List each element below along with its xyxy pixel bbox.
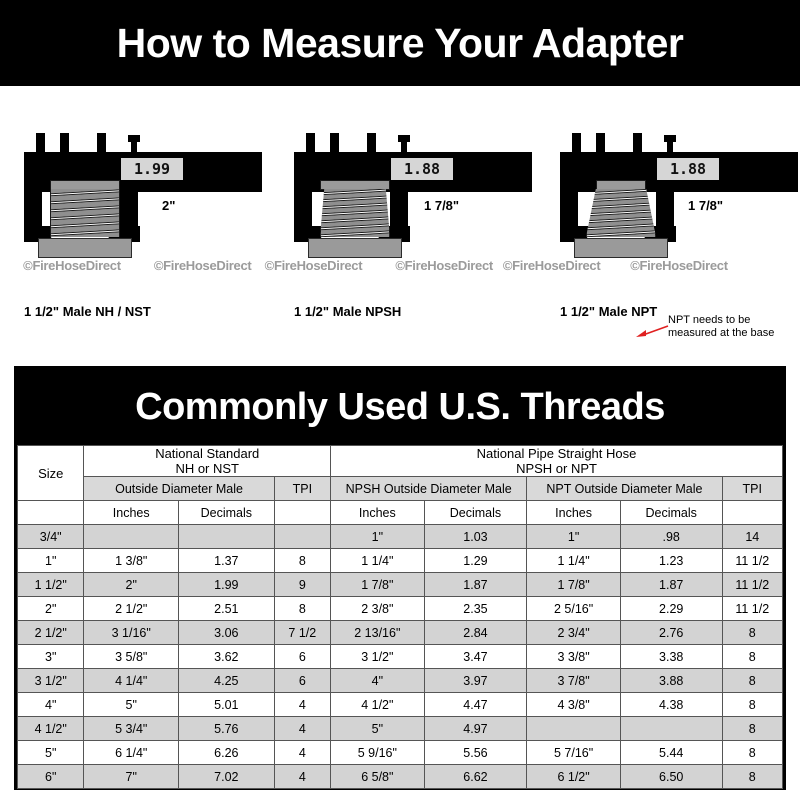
size-cell: 1" [18,549,84,573]
diagram-strip: 1.99 2" 1 1/2" Male NH / NST [0,86,800,358]
nh-decimals-cell: 1.99 [179,573,275,597]
figure-caption: 1 1/2" Male NH / NST [24,304,151,319]
thread-nipple [316,180,394,240]
table-header-row-units: Inches Decimals Inches Decimals Inches D… [18,501,783,525]
nh-inches-cell: 4 1/4" [84,669,179,693]
npt-inches-cell: 3 7/8" [527,669,621,693]
table-row: 1 1/2"2"1.9991 7/8"1.871 7/8"1.8711 1/2 [18,573,783,597]
npt-measurement-note: NPT needs to be measured at the base [668,314,774,340]
size-cell: 3 1/2" [18,669,84,693]
caliper-upper-blade-left [36,133,45,155]
npsh-decimals-cell: 4.97 [424,717,527,741]
table-row: 2 1/2"3 1/16"3.067 1/22 13/16"2.842 3/4"… [18,621,783,645]
thread-body [586,189,656,237]
header-group-nh-line1: National Standard [84,446,330,461]
page-title: How to Measure Your Adapter [117,20,684,67]
header-npsh-od: NPSH Outside Diameter Male [331,477,527,501]
size-cell: 4 1/2" [18,717,84,741]
caliper-reading-value: 1.88 [404,160,440,178]
caliper-figure-nh-nst: 1.99 2" 1 1/2" Male NH / NST [2,86,268,358]
caliper-upper-blade-mid [596,133,605,155]
caliper-lcd-display: 1.88 [656,157,720,181]
caliper-illustration: 1.88 [538,130,800,290]
npsh-inches-cell: 3 1/2" [331,645,425,669]
fitting-base-block [308,238,402,258]
np-tpi-cell: 8 [722,717,782,741]
npsh-decimals-cell: 1.87 [424,573,527,597]
header-npt-od: NPT Outside Diameter Male [527,477,722,501]
npt-decimals-cell: 6.50 [620,765,722,789]
nh-decimals-cell: 7.02 [179,765,275,789]
caliper-depth-stub [734,182,748,191]
caliper-reading-value: 1.99 [134,160,170,178]
np-tpi-cell: 8 [722,621,782,645]
nh-tpi-cell [274,525,330,549]
caliper-depth-stub [198,182,212,191]
table-title: Commonly Used U.S. Threads [135,386,665,429]
npt-inches-cell: 6 1/2" [527,765,621,789]
caliper-upper-blade-right [367,133,376,155]
caliper-thumbwheel-stem [401,140,407,154]
nh-decimals-cell: 1.37 [179,549,275,573]
header-group-np-line1: National Pipe Straight Hose [331,446,782,461]
header-np-tpi-blank [722,501,782,525]
npsh-decimals-cell: 4.47 [424,693,527,717]
npt-decimals-cell: 2.76 [620,621,722,645]
nh-tpi-cell: 6 [274,669,330,693]
nh-decimals-cell: 3.62 [179,645,275,669]
header-unit-blank [18,501,84,525]
npsh-decimals-cell: 3.97 [424,669,527,693]
nh-inches-cell: 3 1/16" [84,621,179,645]
nh-inches-cell: 1 3/8" [84,549,179,573]
thread-body [50,189,120,237]
np-tpi-cell: 11 1/2 [722,549,782,573]
np-tpi-cell: 8 [722,645,782,669]
npt-inches-cell: 2 5/16" [527,597,621,621]
fitting-base-block [38,238,132,258]
npt-inches-cell: 1" [527,525,621,549]
nh-tpi-cell: 8 [274,597,330,621]
page-title-banner: How to Measure Your Adapter [0,0,800,86]
nh-decimals-cell: 3.06 [179,621,275,645]
size-cell: 5" [18,741,84,765]
npt-decimals-cell: .98 [620,525,722,549]
size-cell: 6" [18,765,84,789]
nh-decimals-cell: 5.76 [179,717,275,741]
table-row: 2"2 1/2"2.5182 3/8"2.352 5/16"2.2911 1/2 [18,597,783,621]
caliper-upper-blade-mid [60,133,69,155]
header-group-nh: National Standard NH or NST [84,446,331,477]
npsh-inches-cell: 1 1/4" [331,549,425,573]
threads-table: Size National Standard NH or NST Nationa… [17,445,783,789]
npt-note-line-1: NPT needs to be [668,314,774,327]
npt-inches-cell: 1 7/8" [527,573,621,597]
table-header-row-groups: Size National Standard NH or NST Nationa… [18,446,783,477]
npsh-inches-cell: 2 3/8" [331,597,425,621]
caliper-thumbwheel-stem [667,140,673,154]
inch-callout-label: 1 7/8" [424,198,459,213]
header-nh-tpi: TPI [274,477,330,501]
fitting-base-block [574,238,668,258]
npsh-inches-cell: 6 5/8" [331,765,425,789]
table-row: 3/4"1"1.031".9814 [18,525,783,549]
npsh-decimals-cell: 5.56 [424,741,527,765]
inch-callout-label: 1 7/8" [688,198,723,213]
np-tpi-cell: 8 [722,669,782,693]
header-group-np: National Pipe Straight Hose NPSH or NPT [331,446,783,477]
table-title-banner: Commonly Used U.S. Threads [17,369,783,445]
threads-table-section: Commonly Used U.S. Threads Size National… [14,366,786,790]
caliper-upper-blade-mid [330,133,339,155]
caliper-lcd-display: 1.88 [390,157,454,181]
np-tpi-cell: 11 1/2 [722,573,782,597]
npsh-inches-cell: 4" [331,669,425,693]
npt-decimals-cell: 3.88 [620,669,722,693]
table-row: 1"1 3/8"1.3781 1/4"1.291 1/4"1.2311 1/2 [18,549,783,573]
table-header-row-columns: Outside Diameter Male TPI NPSH Outside D… [18,477,783,501]
caliper-thumbwheel-stem [131,140,137,154]
caliper-figure-npsh: 1.88 1 7/8" 1 1/2" Male NPSH [272,86,538,358]
np-tpi-cell: 14 [722,525,782,549]
table-row: 5"6 1/4"6.2645 9/16"5.565 7/16"5.448 [18,741,783,765]
np-tpi-cell: 8 [722,741,782,765]
header-size: Size [18,446,84,501]
table-body: 3/4"1"1.031".98141"1 3/8"1.3781 1/4"1.29… [18,525,783,789]
table-row: 4 1/2"5 3/4"5.7645"4.978 [18,717,783,741]
header-nh-od: Outside Diameter Male [84,477,274,501]
size-cell: 3" [18,645,84,669]
npsh-inches-cell: 2 13/16" [331,621,425,645]
inch-callout-label: 2" [162,198,175,213]
thread-collar [320,180,390,190]
nh-tpi-cell: 4 [274,741,330,765]
npt-red-arrow-icon [634,324,670,338]
size-cell: 2 1/2" [18,621,84,645]
table-row: 3 1/2"4 1/4"4.2564"3.973 7/8"3.888 [18,669,783,693]
table-row: 4"5"5.0144 1/2"4.474 3/8"4.388 [18,693,783,717]
caliper-upper-blade-left [572,133,581,155]
npt-decimals-cell [620,717,722,741]
nh-decimals-cell: 4.25 [179,669,275,693]
nh-tpi-cell: 8 [274,549,330,573]
nh-inches-cell [84,525,179,549]
size-cell: 3/4" [18,525,84,549]
npsh-inches-cell: 4 1/2" [331,693,425,717]
nh-inches-cell: 5" [84,693,179,717]
npsh-inches-cell: 5 9/16" [331,741,425,765]
nh-inches-cell: 2 1/2" [84,597,179,621]
caliper-depth-stub [468,182,482,191]
npsh-decimals-cell: 6.62 [424,765,527,789]
caliper-illustration: 1.88 [272,130,538,290]
table-row: 6"7"7.0246 5/8"6.626 1/2"6.508 [18,765,783,789]
nh-tpi-cell: 4 [274,717,330,741]
npt-decimals-cell: 2.29 [620,597,722,621]
npsh-decimals-cell: 2.84 [424,621,527,645]
figure-caption: 1 1/2" Male NPSH [294,304,401,319]
header-npsh-decimals: Decimals [424,501,527,525]
header-nh-decimals: Decimals [179,501,275,525]
nh-tpi-cell: 4 [274,693,330,717]
header-npt-decimals: Decimals [620,501,722,525]
nh-decimals-cell [179,525,275,549]
thread-collar [596,180,646,190]
nh-decimals-cell: 2.51 [179,597,275,621]
npt-decimals-cell: 1.23 [620,549,722,573]
npt-note-line-2: measured at the base [668,327,774,340]
figure-caption: 1 1/2" Male NPT [560,304,657,319]
size-cell: 2" [18,597,84,621]
npsh-decimals-cell: 2.35 [424,597,527,621]
caliper-upper-blade-right [97,133,106,155]
npsh-decimals-cell: 3.47 [424,645,527,669]
npsh-inches-cell: 1" [331,525,425,549]
caliper-illustration: 1.99 [2,130,268,290]
caliper-upper-blade-left [306,133,315,155]
np-tpi-cell: 8 [722,765,782,789]
header-group-np-line2: NPSH or NPT [331,461,782,476]
nh-inches-cell: 6 1/4" [84,741,179,765]
npt-inches-cell: 5 7/16" [527,741,621,765]
header-group-nh-line2: NH or NST [84,461,330,476]
nh-inches-cell: 5 3/4" [84,717,179,741]
npsh-decimals-cell: 1.03 [424,525,527,549]
size-cell: 4" [18,693,84,717]
table-row: 3"3 5/8"3.6263 1/2"3.473 3/8"3.388 [18,645,783,669]
npt-inches-cell: 4 3/8" [527,693,621,717]
npt-inches-cell [527,717,621,741]
np-tpi-cell: 11 1/2 [722,597,782,621]
nh-tpi-cell: 9 [274,573,330,597]
npt-inches-cell: 1 1/4" [527,549,621,573]
nh-tpi-cell: 7 1/2 [274,621,330,645]
np-tpi-cell: 8 [722,693,782,717]
npt-inches-cell: 2 3/4" [527,621,621,645]
npt-decimals-cell: 1.87 [620,573,722,597]
header-npt-inches: Inches [527,501,621,525]
nh-inches-cell: 3 5/8" [84,645,179,669]
npt-inches-cell: 3 3/8" [527,645,621,669]
caliper-reading-value: 1.88 [670,160,706,178]
npsh-inches-cell: 5" [331,717,425,741]
nh-inches-cell: 2" [84,573,179,597]
npt-decimals-cell: 4.38 [620,693,722,717]
nh-inches-cell: 7" [84,765,179,789]
npt-decimals-cell: 3.38 [620,645,722,669]
npt-decimals-cell: 5.44 [620,741,722,765]
table-head: Size National Standard NH or NST Nationa… [18,446,783,525]
nh-tpi-cell: 6 [274,645,330,669]
nh-decimals-cell: 5.01 [179,693,275,717]
thread-body [320,189,390,237]
npsh-decimals-cell: 1.29 [424,549,527,573]
caliper-upper-blade-right [633,133,642,155]
header-np-tpi: TPI [722,477,782,501]
header-nh-tpi-blank [274,501,330,525]
thread-nipple [46,180,124,240]
header-npsh-inches: Inches [331,501,425,525]
npsh-inches-cell: 1 7/8" [331,573,425,597]
thread-nipple [582,180,660,240]
size-cell: 1 1/2" [18,573,84,597]
caliper-lcd-display: 1.99 [120,157,184,181]
header-nh-inches: Inches [84,501,179,525]
nh-tpi-cell: 4 [274,765,330,789]
nh-decimals-cell: 6.26 [179,741,275,765]
